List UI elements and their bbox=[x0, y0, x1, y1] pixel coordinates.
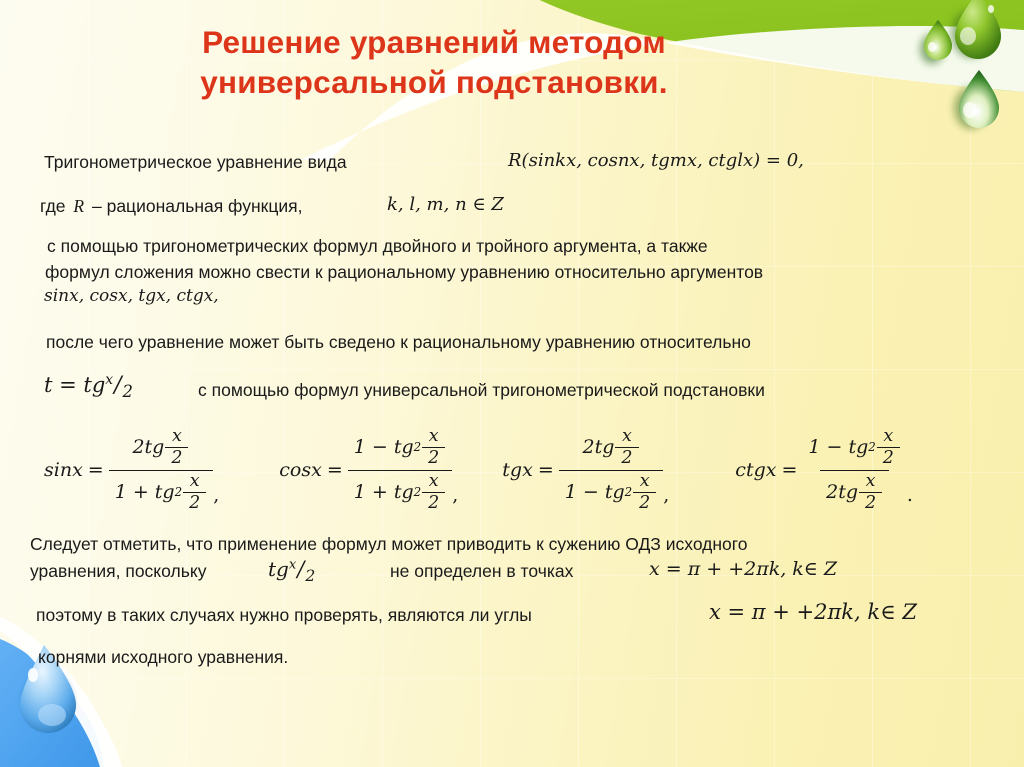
slashfrac-numerator: x bbox=[105, 372, 113, 388]
tg-half-angle-formula: tgx/2 bbox=[268, 557, 315, 585]
formula-ctg-fraction: 1 − tg2x2 2tgx2 bbox=[802, 428, 907, 513]
formula-cos-num-coef: 1 − tg bbox=[354, 437, 414, 458]
formula-ctg-numerator: 1 − tg2x2 bbox=[802, 428, 907, 470]
undefined-points-formula: x = π + +2πk, k∈ Z bbox=[649, 558, 837, 580]
intro-line-text: Тригонометрическое уравнение вида bbox=[44, 151, 347, 173]
formula-sin-den-2: 2 bbox=[183, 492, 206, 512]
formula-cos-den-power: 2 bbox=[414, 486, 422, 499]
where-line: где R – рациональная функция, bbox=[40, 195, 302, 217]
formula-tg-lhs: tgx bbox=[502, 459, 533, 481]
formula-tg-tail: , bbox=[663, 484, 669, 512]
formula-ctg-num-2: 2 bbox=[877, 447, 900, 467]
slashfrac-slash: / bbox=[113, 373, 122, 398]
formula-ctg: ctgx = 1 − tg2x2 2tgx2 . bbox=[735, 428, 913, 513]
reduction-line: после чего уравнение может быть сведено … bbox=[46, 331, 751, 353]
formula-sin-fraction: 2tgx2 1 + tg2x2 bbox=[109, 428, 214, 513]
slide-title: Решение уравнений методом универсальной … bbox=[0, 22, 868, 102]
note-line-2a: уравнения, поскольку bbox=[30, 560, 206, 582]
formula-ctg-den-halffrac: x2 bbox=[859, 473, 882, 513]
formula-tg-den-coef: 1 − tg bbox=[565, 482, 625, 503]
slide-canvas: Решение уравнений методом универсальной … bbox=[0, 0, 1024, 767]
formula-sin-denominator: 1 + tg2x2 bbox=[109, 470, 214, 513]
substitution-variable-formula: t = tgx/2 bbox=[44, 372, 133, 401]
formula-cos-lhs: cosx bbox=[279, 459, 322, 481]
formula-tg-num-2: 2 bbox=[615, 447, 638, 467]
formula-tg-num-x: x bbox=[616, 428, 638, 447]
formula-cos-num-x: x bbox=[423, 428, 445, 447]
formula-ctg-num-x: x bbox=[877, 428, 899, 447]
formula-tg-fraction: 2tgx2 1 − tg2x2 bbox=[559, 428, 664, 513]
formula-tg-num-coef: 2tg bbox=[582, 437, 614, 458]
formula-ctg-num-halffrac: x2 bbox=[877, 428, 900, 468]
formula-ctg-num-coef: 1 − tg bbox=[808, 437, 868, 458]
formula-ctg-den-coef: 2tg bbox=[826, 482, 858, 503]
arguments-formula: sinx, cosx, tgx, ctgx, bbox=[44, 286, 219, 306]
slashfrac2-denominator: 2 bbox=[305, 567, 315, 585]
formula-ctg-num-power: 2 bbox=[868, 441, 876, 454]
formula-sin-num-halffrac: x2 bbox=[165, 428, 188, 468]
formula-tg-num-halffrac: x2 bbox=[615, 428, 638, 468]
formula-tg-den-2: 2 bbox=[633, 492, 656, 512]
universal-substitution-formula-row: sinx = 2tgx2 1 + tg2x2 , cosx = 1 − tg2x… bbox=[0, 424, 1024, 516]
tg-half-lhs: tg bbox=[268, 557, 289, 581]
formula-cos-denominator: 1 + tg2x2 bbox=[348, 470, 453, 513]
title-line-1: Решение уравнений методом bbox=[0, 22, 868, 62]
formula-tg-denominator: 1 − tg2x2 bbox=[559, 470, 664, 513]
formula-sin-num-coef: 2tg bbox=[132, 437, 164, 458]
slide-content: Тригонометрическое уравнение вида R(sink… bbox=[0, 0, 1024, 767]
note-line-4: корнями исходного уравнения. bbox=[38, 646, 288, 668]
where-label: где bbox=[40, 196, 66, 216]
formula-sin-tail: , bbox=[213, 484, 219, 512]
formula-cos: cosx = 1 − tg2x2 1 + tg2x2 , bbox=[279, 428, 458, 513]
method-line-2: формул сложения можно свести к рациональ… bbox=[45, 261, 763, 283]
x-over-2-slashed: x/2 bbox=[105, 372, 133, 401]
formula-sin-lhs: sinx bbox=[44, 459, 83, 481]
integer-domain-formula: k, l, m, n ∈ Z bbox=[387, 194, 504, 215]
note-line-2b: не определен в точках bbox=[390, 560, 573, 582]
slashfrac-denominator: 2 bbox=[123, 382, 133, 401]
formula-sin-num-x: x bbox=[166, 428, 188, 447]
formula-ctg-lhs: ctgx bbox=[735, 459, 776, 481]
formula-cos-num-2: 2 bbox=[422, 447, 445, 467]
formula-tg-den-halffrac: x2 bbox=[633, 473, 656, 513]
formula-sin-den-power: 2 bbox=[175, 486, 183, 499]
substitution-description: с помощью формул универсальной тригономе… bbox=[198, 379, 765, 401]
formula-sin-den-coef: 1 + tg bbox=[115, 482, 175, 503]
check-angles-formula: x = π + +2πk, k∈ Z bbox=[709, 600, 917, 624]
formula-cos-num-power: 2 bbox=[414, 441, 422, 454]
formula-cos-den-2: 2 bbox=[422, 492, 445, 512]
formula-sin-den-halffrac: x2 bbox=[183, 473, 206, 513]
formula-cos-num-halffrac: x2 bbox=[422, 428, 445, 468]
substitution-lhs: t = tg bbox=[44, 373, 105, 397]
formula-cos-fraction: 1 − tg2x2 1 + tg2x2 bbox=[348, 428, 453, 513]
formula-cos-den-halffrac: x2 bbox=[422, 473, 445, 513]
formula-ctg-denominator: 2tgx2 bbox=[820, 470, 889, 513]
note-line-1: Следует отметить, что применение формул … bbox=[30, 533, 748, 555]
formula-tg-numerator: 2tgx2 bbox=[576, 428, 645, 470]
x-over-2-slashed-2: x/2 bbox=[289, 557, 315, 585]
method-line-1: с помощью тригонометрических формул двой… bbox=[47, 235, 708, 257]
formula-cos-tail: , bbox=[452, 484, 458, 512]
formula-tg-den-x: x bbox=[634, 473, 656, 492]
slashfrac2-slash: / bbox=[296, 557, 305, 581]
formula-sin: sinx = 2tgx2 1 + tg2x2 , bbox=[44, 428, 219, 513]
formula-ctg-tail: . bbox=[907, 484, 913, 512]
title-line-2: универсальной подстановки. bbox=[0, 62, 868, 102]
formula-cos-numerator: 1 − tg2x2 bbox=[348, 428, 453, 470]
formula-sin-num-2: 2 bbox=[165, 447, 188, 467]
formula-sin-numerator: 2tgx2 bbox=[126, 428, 195, 470]
formula-cos-equals: = bbox=[327, 459, 343, 481]
formula-sin-den-x: x bbox=[184, 473, 206, 492]
rational-function-label: – рациональная функция, bbox=[92, 196, 302, 216]
formula-ctg-equals: = bbox=[781, 459, 797, 481]
formula-tg-equals: = bbox=[538, 459, 554, 481]
formula-cos-den-coef: 1 + tg bbox=[354, 482, 414, 503]
formula-sin-equals: = bbox=[88, 459, 104, 481]
note-line-3: поэтому в таких случаях нужно проверять,… bbox=[36, 604, 532, 626]
formula-cos-den-x: x bbox=[423, 473, 445, 492]
general-equation-formula: R(sinkx, cosnx, tgmx, ctglx) = 0, bbox=[508, 150, 804, 171]
formula-tg: tgx = 2tgx2 1 − tg2x2 , bbox=[502, 428, 669, 513]
formula-ctg-den-x: x bbox=[860, 473, 882, 492]
formula-ctg-den-2: 2 bbox=[859, 492, 882, 512]
function-symbol-r: R bbox=[70, 196, 87, 216]
formula-tg-den-power: 2 bbox=[625, 486, 633, 499]
